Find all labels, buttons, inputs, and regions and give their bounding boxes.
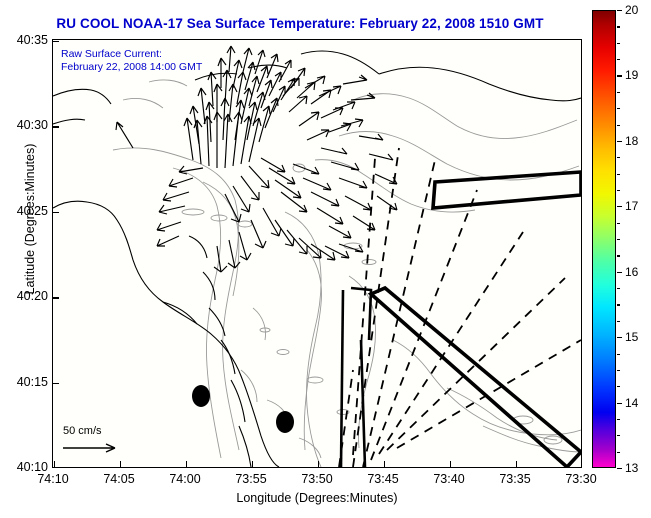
- map-plot-area[interactable]: Raw Surface Current: February 22, 2008 1…: [52, 39, 582, 468]
- colorbar-tick-label: 16: [625, 265, 638, 279]
- colorbar-minor-tick: [617, 288, 620, 289]
- x-tick: [318, 461, 319, 467]
- colorbar-minor-tick: [617, 43, 620, 44]
- colorbar-minor-tick: [617, 26, 620, 27]
- x-tick-label: 74:10: [37, 472, 68, 486]
- colorbar-minor-tick: [617, 386, 620, 387]
- shipping-lane-boxes: [371, 172, 581, 467]
- current-annotation: Raw Surface Current: February 22, 2008 1…: [61, 48, 202, 74]
- colorbar-minor-tick: [617, 354, 620, 355]
- colorbar-tick-label: 19: [625, 68, 638, 82]
- colorbar-tick: [617, 468, 622, 469]
- annotation-line-1: Raw Surface Current:: [61, 48, 202, 61]
- colorbar-minor-tick: [617, 108, 620, 109]
- x-tick-label: 73:50: [301, 472, 332, 486]
- scale-legend-label: 50 cm/s: [63, 425, 102, 437]
- y-tick-label: 40:25: [17, 204, 48, 218]
- colorbar-minor-tick: [617, 321, 620, 322]
- y-tick-label: 40:35: [17, 33, 48, 47]
- annotation-line-2: February 22, 2008 14:00 GMT: [61, 61, 202, 74]
- colorbar-minor-tick: [617, 92, 620, 93]
- colorbar-tick: [617, 272, 622, 273]
- x-tick: [516, 461, 517, 467]
- colorbar-tick: [617, 337, 622, 338]
- x-tick-label: 73:55: [235, 472, 266, 486]
- sst-map-figure: RU COOL NOAA-17 Sea Surface Temperature:…: [0, 0, 651, 518]
- map-canvas: [53, 40, 581, 467]
- colorbar-tick-label: 20: [625, 3, 638, 17]
- colorbar-minor-tick: [617, 125, 620, 126]
- y-tick: [53, 126, 59, 127]
- colorbar-minor-tick: [617, 174, 620, 175]
- station-marker: [276, 411, 294, 433]
- colorbar-tick-label: 15: [625, 330, 638, 344]
- colorbar-minor-tick: [617, 223, 620, 224]
- y-tick-label: 40:15: [17, 375, 48, 389]
- colorbar-tick-label: 18: [625, 134, 638, 148]
- x-tick-label: 73:30: [565, 472, 596, 486]
- x-tick-label: 74:05: [103, 472, 134, 486]
- station-marker: [192, 385, 210, 407]
- colorbar-tick: [617, 206, 622, 207]
- y-tick: [53, 297, 59, 298]
- page-title: RU COOL NOAA-17 Sea Surface Temperature:…: [0, 16, 600, 31]
- colorbar-tick: [617, 10, 622, 11]
- colorbar-minor-tick: [617, 190, 620, 191]
- colorbar-minor-tick: [617, 370, 620, 371]
- shipping-lane-box-north: [433, 172, 581, 208]
- x-tick-label: 73:40: [433, 472, 464, 486]
- x-tick-label: 73:35: [499, 472, 530, 486]
- colorbar-minor-tick: [617, 452, 620, 453]
- dashed-radial-lines: [339, 148, 581, 467]
- y-tick-label: 40:20: [17, 289, 48, 303]
- right-arrow-icon: [61, 441, 131, 455]
- colorbar-tick-label: 17: [625, 199, 638, 213]
- colorbar-minor-tick: [617, 304, 620, 305]
- x-tick: [450, 461, 451, 467]
- bathymetry-contours: [113, 80, 581, 467]
- y-tick-label: 40:30: [17, 118, 48, 132]
- colorbar-tick: [617, 75, 622, 76]
- navigation-channel: [341, 288, 371, 467]
- x-tick: [120, 461, 121, 467]
- colorbar-minor-tick: [617, 157, 620, 158]
- colorbar-tick-label: 14: [625, 396, 638, 410]
- x-tick: [186, 461, 187, 467]
- colorbar-minor-tick: [617, 255, 620, 256]
- y-tick: [53, 212, 59, 213]
- x-tick-label: 73:45: [367, 472, 398, 486]
- y-tick: [53, 383, 59, 384]
- colorbar[interactable]: [592, 10, 616, 468]
- scale-legend: 50 cm/s: [61, 425, 165, 461]
- colorbar-minor-tick: [617, 419, 620, 420]
- colorbar-minor-tick: [617, 59, 620, 60]
- y-tick: [53, 41, 59, 42]
- x-axis-title: Longitude (Degrees:Minutes): [52, 491, 582, 505]
- x-tick: [252, 461, 253, 467]
- x-tick: [384, 461, 385, 467]
- colorbar-minor-tick: [617, 239, 620, 240]
- x-tick-label: 74:00: [169, 472, 200, 486]
- colorbar-tick: [617, 141, 622, 142]
- colorbar-minor-tick: [617, 435, 620, 436]
- y-tick-label: 40:10: [17, 460, 48, 474]
- colorbar-tick: [617, 403, 622, 404]
- colorbar-tick-label: 13: [625, 461, 638, 475]
- x-tick: [54, 461, 55, 467]
